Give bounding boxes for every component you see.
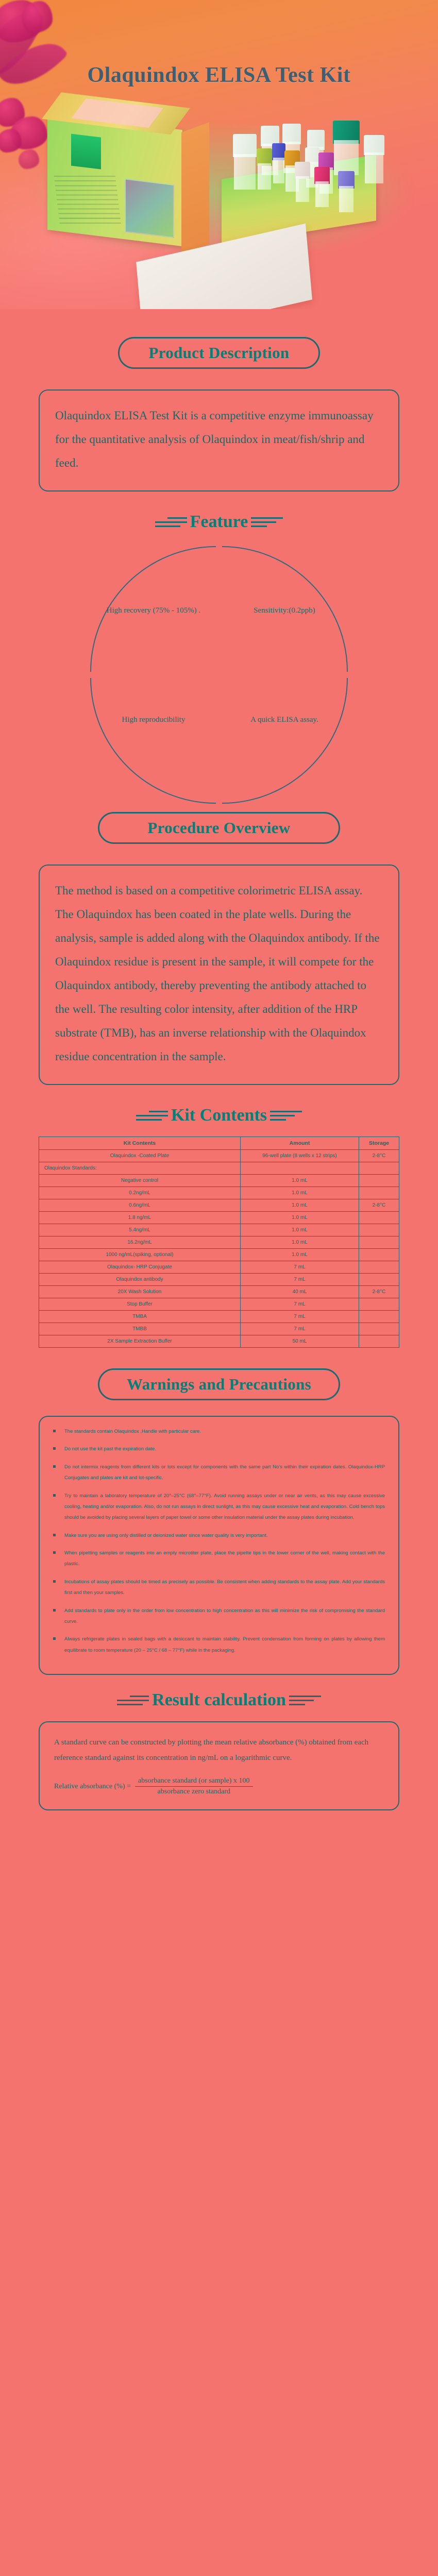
cell-storage — [359, 1224, 399, 1236]
cell-amount — [241, 1162, 359, 1175]
warning-text: The standards contain Olaquindox .Handle… — [64, 1429, 201, 1434]
feature-quadrant-top-right: Sensitivity:(0.2ppb) — [222, 546, 348, 672]
kit-box — [47, 113, 182, 246]
warning-list-item: Add standards to plate only in the order… — [51, 1605, 385, 1628]
cell-kit-content: 20X Wash Solution — [39, 1286, 241, 1298]
decorative-rules-right — [270, 1111, 302, 1121]
warnings-heading: Warnings and Precautions — [98, 1368, 340, 1400]
feature-heading: Feature — [190, 512, 248, 532]
cell-kit-content: Olaquindox -Coated Plate — [39, 1150, 241, 1162]
product-description-section: Product Description Olaquindox ELISA Tes… — [0, 309, 438, 492]
table-row: 16.2ng/mL1.0 mL — [39, 1236, 399, 1249]
cell-kit-content: Stop Buffer — [39, 1298, 241, 1311]
table-row: 1000 ng/mL(spiking, optional)1.0 mL — [39, 1249, 399, 1261]
kit-contents-heading: Kit Contents — [171, 1106, 267, 1125]
table-row: 5.4ng/mL1.0 mL — [39, 1224, 399, 1236]
table-header-row: Kit Contents Amount Storage — [39, 1137, 399, 1150]
result-calculation-text: A standard curve can be constructed by p… — [54, 1735, 384, 1766]
cell-amount: 7 mL — [241, 1323, 359, 1335]
cell-storage — [359, 1298, 399, 1311]
feature-item-label: High reproducibility — [122, 715, 186, 726]
cell-amount: 1.0 mL — [241, 1236, 359, 1249]
table-row: Olaquindox -Coated Plate96-well plate (8… — [39, 1150, 399, 1162]
cell-amount: 7 mL — [241, 1261, 359, 1274]
cell-amount: 1.0 mL — [241, 1224, 359, 1236]
feature-circle-diagram: High recovery (75% - 105%) . Sensitivity… — [0, 543, 438, 807]
bullet-square-icon — [53, 1447, 56, 1450]
result-calculation-section: Result calculation A standard curve can … — [0, 1675, 438, 1831]
cell-kit-content: Negative control — [39, 1175, 241, 1187]
decorative-rules-left — [136, 1111, 168, 1121]
cell-storage — [359, 1236, 399, 1249]
cell-amount: 1.0 mL — [241, 1175, 359, 1187]
warning-text: Do not use the kit past the expiration d… — [64, 1446, 156, 1452]
feature-item-label: High recovery (75% - 105%) . — [107, 605, 200, 617]
feature-quadrant-bottom-right: A quick ELISA assay. — [222, 678, 348, 804]
vial — [295, 162, 310, 202]
feature-item-label: A quick ELISA assay. — [250, 715, 318, 726]
bullet-square-icon — [53, 1534, 56, 1536]
decorative-rules-right — [289, 1696, 321, 1705]
cell-kit-content: Olaquindox antibody — [39, 1274, 241, 1286]
product-page: Olaquindox ELISA Test Kit — [0, 0, 438, 1831]
cell-storage — [359, 1187, 399, 1199]
cell-amount: 1.0 mL — [241, 1212, 359, 1224]
vial-large — [233, 134, 257, 190]
bullet-square-icon — [53, 1465, 56, 1468]
procedure-overview-box: The method is based on a competitive col… — [39, 865, 399, 1085]
cell-kit-content: 0.2ng/mL — [39, 1187, 241, 1199]
bullet-square-icon — [53, 1430, 56, 1432]
warning-list-item: Incubations of assay plates should be ti… — [51, 1577, 385, 1599]
kit-contents-table: Kit Contents Amount Storage Olaquindox -… — [39, 1137, 399, 1348]
table-row: 0.6ng/mL1.0 mL2-8°C — [39, 1199, 399, 1212]
warning-text: Try to maintain a laboratory temperature… — [64, 1493, 385, 1521]
cell-storage — [359, 1335, 399, 1348]
page-title: Olaquindox ELISA Test Kit — [0, 63, 438, 88]
bullet-square-icon — [53, 1580, 56, 1583]
decorative-rules-left — [155, 517, 187, 527]
vial — [314, 167, 330, 207]
decorative-rules-right — [251, 517, 283, 527]
result-calculation-box: A standard curve can be constructed by p… — [39, 1721, 399, 1810]
cell-amount: 96-well plate (8 wells x 12 strips) — [241, 1150, 359, 1162]
warning-list-item: Do not use the kit past the expiration d… — [51, 1444, 385, 1454]
table-row: Negative control1.0 mL — [39, 1175, 399, 1187]
decorative-rules-left — [117, 1696, 149, 1705]
table-row: Olaquindox Standards: — [39, 1162, 399, 1175]
result-calculation-heading-row: Result calculation — [0, 1690, 438, 1710]
feature-heading-row: Feature — [0, 512, 438, 532]
formula-denominator: absorbance zero standard — [135, 1787, 253, 1796]
cell-kit-content: TMBB — [39, 1323, 241, 1335]
procedure-overview-text: The method is based on a competitive col… — [55, 879, 383, 1069]
result-calculation-heading: Result calculation — [152, 1690, 286, 1710]
table-row: Olaquindox- HRP Conjugate7 mL — [39, 1261, 399, 1274]
cell-kit-content: Olaquindox Standards: — [39, 1162, 241, 1175]
procedure-overview-section: Procedure Overview The method is based o… — [0, 807, 438, 1085]
cell-kit-content: 1000 ng/mL(spiking, optional) — [39, 1249, 241, 1261]
feature-section: Feature High recovery (75% - 105%) . Sen… — [0, 492, 438, 807]
cell-amount: 7 mL — [241, 1274, 359, 1286]
qc-pass-label — [71, 134, 101, 170]
bullet-square-icon — [53, 1551, 56, 1554]
vial — [338, 171, 355, 212]
vial — [257, 148, 272, 190]
product-description-heading: Product Description — [118, 337, 320, 369]
table-row: Stop Buffer7 mL — [39, 1298, 399, 1311]
bullet-square-icon — [53, 1637, 56, 1640]
feature-quadrant-bottom-left: High reproducibility — [90, 678, 216, 804]
feature-quadrant-top-left: High recovery (75% - 105%) . — [90, 546, 216, 672]
column-header-storage: Storage — [359, 1137, 399, 1150]
warning-list-item: Do not intermix reagents from different … — [51, 1462, 385, 1484]
warning-text: Do not intermix reagents from different … — [64, 1464, 385, 1481]
warnings-box: The standards contain Olaquindox .Handle… — [39, 1416, 399, 1675]
product-description-box: Olaquindox ELISA Test Kit is a competiti… — [39, 389, 399, 492]
cell-storage — [359, 1175, 399, 1187]
cell-kit-content: 16.2ng/mL — [39, 1236, 241, 1249]
cell-storage: 2-8°C — [359, 1199, 399, 1212]
cell-amount: 1.0 mL — [241, 1187, 359, 1199]
warning-list-item: Always refrigerate plates in sealed bags… — [51, 1634, 385, 1656]
table-row: TMBA7 mL — [39, 1311, 399, 1323]
vial — [364, 135, 384, 183]
cell-storage — [359, 1162, 399, 1175]
cell-storage: 2-8°C — [359, 1150, 399, 1162]
column-header-kit-contents: Kit Contents — [39, 1137, 241, 1150]
warning-text: Incubations of assay plates should be ti… — [64, 1579, 385, 1596]
cell-storage — [359, 1261, 399, 1274]
cell-kit-content: 2X Sample Extraction Buffer — [39, 1335, 241, 1348]
cell-storage — [359, 1311, 399, 1323]
table-row: TMBB7 mL — [39, 1323, 399, 1335]
warning-text: Make sure you are using only distilled o… — [64, 1533, 267, 1538]
warning-list-item: When pipetting samples or reagents into … — [51, 1548, 385, 1570]
formula-label: Relative absorbance (%) = — [54, 1783, 131, 1791]
formula-numerator: absorbance standard (or sample) x 100 — [135, 1777, 253, 1787]
cell-storage — [359, 1274, 399, 1286]
warning-text: Always refrigerate plates in sealed bags… — [64, 1636, 385, 1653]
warnings-section: Warnings and Precautions The standards c… — [0, 1348, 438, 1675]
cell-kit-content: Olaquindox- HRP Conjugate — [39, 1261, 241, 1274]
cell-storage: 2-8°C — [359, 1286, 399, 1298]
warning-text: When pipetting samples or reagents into … — [64, 1550, 385, 1567]
product-description-text: Olaquindox ELISA Test Kit is a competiti… — [55, 404, 383, 475]
bullet-square-icon — [53, 1494, 56, 1497]
hero-banner: Olaquindox ELISA Test Kit — [0, 0, 438, 309]
cell-storage — [359, 1249, 399, 1261]
cell-amount: 1.0 mL — [241, 1249, 359, 1261]
product-photo — [0, 101, 438, 266]
warning-text: Add standards to plate only in the order… — [64, 1608, 385, 1624]
procedure-overview-heading: Procedure Overview — [98, 812, 340, 844]
table-row: 2X Sample Extraction Buffer50 mL — [39, 1335, 399, 1348]
cell-amount: 7 mL — [241, 1298, 359, 1311]
cell-amount: 40 mL — [241, 1286, 359, 1298]
cell-storage — [359, 1323, 399, 1335]
cell-amount: 50 mL — [241, 1335, 359, 1348]
table-row: 0.2ng/mL1.0 mL — [39, 1187, 399, 1199]
warning-list-item: Make sure you are using only distilled o… — [51, 1530, 385, 1541]
warning-list-item: The standards contain Olaquindox .Handle… — [51, 1426, 385, 1437]
table-row: 20X Wash Solution40 mL2-8°C — [39, 1286, 399, 1298]
cell-storage — [359, 1212, 399, 1224]
table-row: 1.8 ng/mL1.0 mL — [39, 1212, 399, 1224]
column-header-amount: Amount — [241, 1137, 359, 1150]
vial-large — [333, 121, 360, 175]
cell-amount: 1.0 mL — [241, 1199, 359, 1212]
feature-item-label: Sensitivity:(0.2ppb) — [254, 605, 315, 617]
cell-kit-content: 5.4ng/mL — [39, 1224, 241, 1236]
bullet-square-icon — [53, 1609, 56, 1612]
cell-amount: 7 mL — [241, 1311, 359, 1323]
cell-kit-content: TMBA — [39, 1311, 241, 1323]
warning-list-item: Try to maintain a laboratory temperature… — [51, 1490, 385, 1523]
cell-kit-content: 1.8 ng/mL — [39, 1212, 241, 1224]
kit-contents-heading-row: Kit Contents — [0, 1106, 438, 1125]
table-row: Olaquindox antibody7 mL — [39, 1274, 399, 1286]
vial — [272, 143, 285, 183]
relative-absorbance-formula: Relative absorbance (%) = absorbance sta… — [54, 1777, 384, 1796]
cell-kit-content: 0.6ng/mL — [39, 1199, 241, 1212]
kit-contents-section: Kit Contents Kit Contents Amount Storage… — [0, 1085, 438, 1348]
